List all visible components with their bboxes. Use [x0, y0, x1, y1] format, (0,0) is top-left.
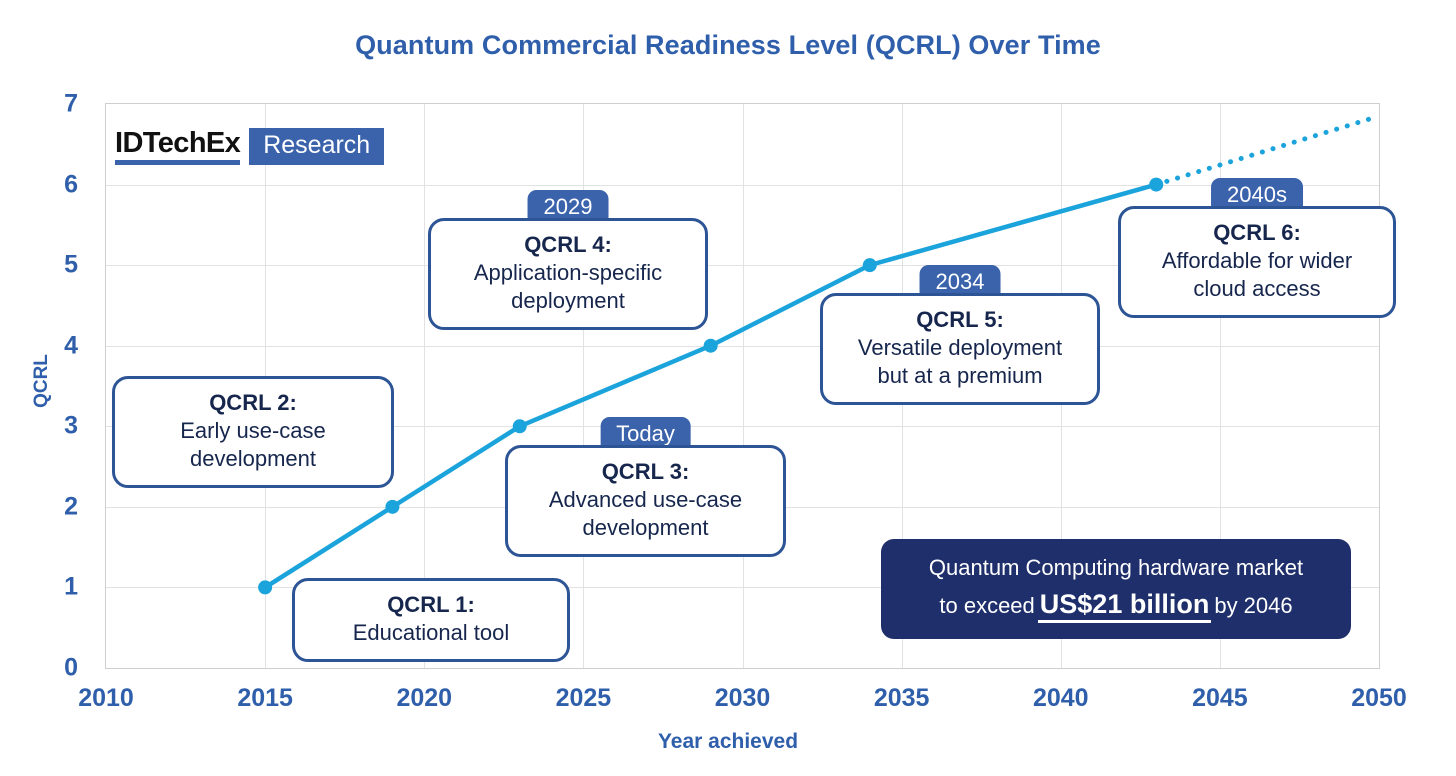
- callout-box-qcrl-6: QCRL 6:Affordable for widercloud access: [1118, 206, 1396, 318]
- callout-desc-line: Advanced use-case: [522, 486, 769, 514]
- x-tick-2010: 2010: [51, 684, 161, 713]
- x-tick-2015: 2015: [210, 684, 320, 713]
- callout-desc-line: Versatile deployment: [837, 334, 1083, 362]
- y-tick-7: 7: [26, 90, 78, 119]
- callout-box-qcrl-5: QCRL 5:Versatile deploymentbut at a prem…: [820, 293, 1100, 405]
- logo-wordmark: IDTechEx: [115, 128, 240, 164]
- callout-box-qcrl-2: QCRL 2:Early use-casedevelopment: [112, 376, 394, 488]
- x-tick-2020: 2020: [369, 684, 479, 713]
- callout-title-qcrl-5: QCRL 5:: [837, 306, 1083, 334]
- y-tick-4: 4: [26, 331, 78, 360]
- callout-box-qcrl-4: QCRL 4:Application-specificdeployment: [428, 218, 708, 330]
- callout-desc-line: Affordable for wider: [1135, 247, 1379, 275]
- y-tick-0: 0: [26, 654, 78, 683]
- x-tick-2045: 2045: [1165, 684, 1275, 713]
- callout-desc-line: Early use-case: [129, 417, 377, 445]
- callout-title-qcrl-6: QCRL 6:: [1135, 219, 1379, 247]
- x-tick-2025: 2025: [528, 684, 638, 713]
- chart-canvas: Quantum Commercial Readiness Level (QCRL…: [0, 0, 1456, 776]
- data-point: [385, 500, 399, 514]
- callout-title-qcrl-3: QCRL 3:: [522, 458, 769, 486]
- data-point: [513, 419, 527, 433]
- callout-title-qcrl-2: QCRL 2:: [129, 389, 377, 417]
- stat-line-2: to exceedUS$21 billionby 2046: [899, 585, 1333, 623]
- callout-desc-line: cloud access: [1135, 275, 1379, 303]
- y-tick-5: 5: [26, 251, 78, 280]
- x-tick-2040: 2040: [1006, 684, 1116, 713]
- callout-desc-line: Application-specific: [445, 259, 691, 287]
- stat-suffix: by 2046: [1214, 593, 1292, 618]
- data-point: [704, 339, 718, 353]
- y-tick-3: 3: [26, 412, 78, 441]
- data-point: [863, 258, 877, 272]
- callout-desc-line: development: [522, 514, 769, 542]
- callout-title-qcrl-4: QCRL 4:: [445, 231, 691, 259]
- page-title: Quantum Commercial Readiness Level (QCRL…: [0, 30, 1456, 61]
- idtechex-logo: IDTechEx Research: [115, 128, 384, 165]
- data-point: [258, 580, 272, 594]
- callout-desc-line: Educational tool: [309, 619, 553, 647]
- callout-title-qcrl-1: QCRL 1:: [309, 591, 553, 619]
- x-tick-2050: 2050: [1324, 684, 1434, 713]
- x-tick-2030: 2030: [688, 684, 798, 713]
- market-stat-box: Quantum Computing hardware market to exc…: [881, 539, 1351, 639]
- x-tick-2035: 2035: [847, 684, 957, 713]
- callout-box-qcrl-1: QCRL 1:Educational tool: [292, 578, 570, 662]
- callout-desc-line: deployment: [445, 287, 691, 315]
- stat-highlight: US$21 billion: [1038, 589, 1212, 623]
- callout-desc-line: development: [129, 445, 377, 473]
- stat-line-1: Quantum Computing hardware market: [899, 553, 1333, 583]
- y-tick-1: 1: [26, 573, 78, 602]
- series-line-dotted: [1156, 116, 1379, 184]
- y-tick-6: 6: [26, 170, 78, 199]
- callout-box-qcrl-3: QCRL 3:Advanced use-casedevelopment: [505, 445, 786, 557]
- y-tick-2: 2: [26, 492, 78, 521]
- logo-research-badge: Research: [249, 128, 384, 165]
- callout-desc-line: but at a premium: [837, 362, 1083, 390]
- x-axis-label: Year achieved: [0, 730, 1456, 754]
- stat-prefix: to exceed: [939, 593, 1034, 618]
